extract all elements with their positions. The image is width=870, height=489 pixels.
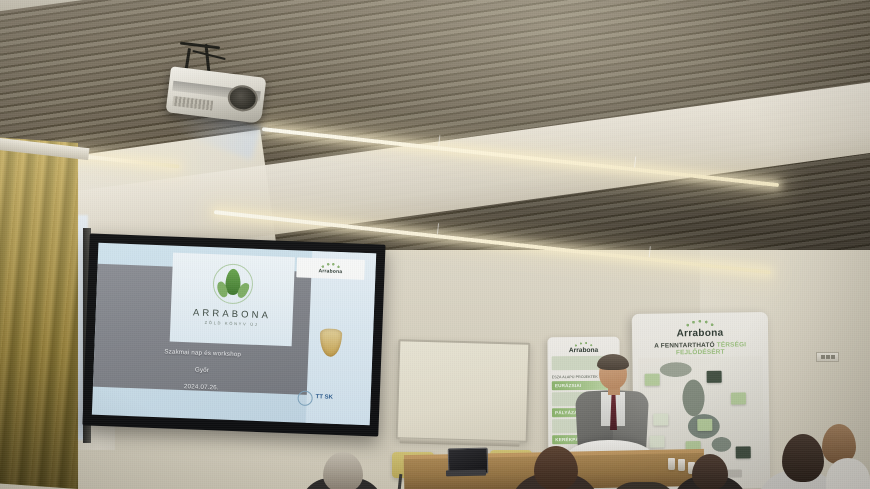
map-photo-tile bbox=[736, 446, 751, 458]
audience-head bbox=[782, 434, 824, 482]
slide-partner-logo: TT SK bbox=[297, 387, 360, 411]
banner-small-brand: Arrabona bbox=[548, 347, 620, 355]
banner-header: Arrabona A FENNTARTHATÓ TÉRSÉGI FEJLŐDÉS… bbox=[632, 319, 768, 357]
socket-outlet bbox=[831, 355, 835, 359]
audience-head bbox=[692, 454, 728, 489]
leaf-emblem-icon bbox=[212, 263, 254, 305]
projection-screen[interactable]: ARRABONA ZÖLD KÖNYV ÚJ Szakmai nap és wo… bbox=[82, 233, 385, 436]
audience-head bbox=[534, 446, 578, 489]
wall-socket-plate[interactable] bbox=[816, 352, 839, 362]
map-photo-tile bbox=[731, 392, 746, 404]
socket-outlet bbox=[821, 355, 825, 359]
banner-tagline: A FENNTARTHATÓ TÉRSÉGI FEJLŐDÉSÉRT bbox=[632, 341, 768, 357]
seal-icon bbox=[297, 390, 313, 406]
presentation-slide: ARRABONA ZÖLD KÖNYV ÚJ Szakmai nap és wo… bbox=[92, 243, 376, 426]
slide-arrabona-badge: Arrabona bbox=[296, 257, 365, 280]
partner-logo bbox=[727, 469, 742, 477]
projector-lens bbox=[226, 84, 259, 113]
slide-logo-card: ARRABONA ZÖLD KÖNYV ÚJ bbox=[170, 252, 296, 346]
banner-brand: Arrabona bbox=[632, 327, 768, 340]
hair bbox=[597, 354, 629, 370]
partner-abbrev: TT SK bbox=[315, 396, 333, 402]
socket-outlet bbox=[826, 355, 830, 359]
partner-caption bbox=[336, 397, 337, 401]
whiteboard[interactable] bbox=[396, 339, 531, 443]
water-glass[interactable] bbox=[668, 458, 675, 470]
badge-brand-name: Arrabona bbox=[318, 268, 342, 275]
water-glass[interactable] bbox=[678, 459, 685, 471]
screen-surface: ARRABONA ZÖLD KÖNYV ÚJ Szakmai nap és wo… bbox=[92, 243, 376, 426]
banner-region-map bbox=[638, 356, 763, 460]
conference-room-photo: ARRABONA ZÖLD KÖNYV ÚJ Szakmai nap és wo… bbox=[0, 0, 870, 489]
map-photo-tile bbox=[653, 413, 668, 425]
curtain-shading bbox=[0, 138, 78, 489]
map-photo-tile bbox=[697, 419, 712, 431]
projector-vent bbox=[172, 96, 213, 111]
banner-dots-icon bbox=[684, 320, 716, 327]
map-photo-tile bbox=[649, 436, 664, 448]
laptop-keyboard[interactable] bbox=[446, 470, 486, 477]
map-photo-tile bbox=[707, 371, 722, 383]
